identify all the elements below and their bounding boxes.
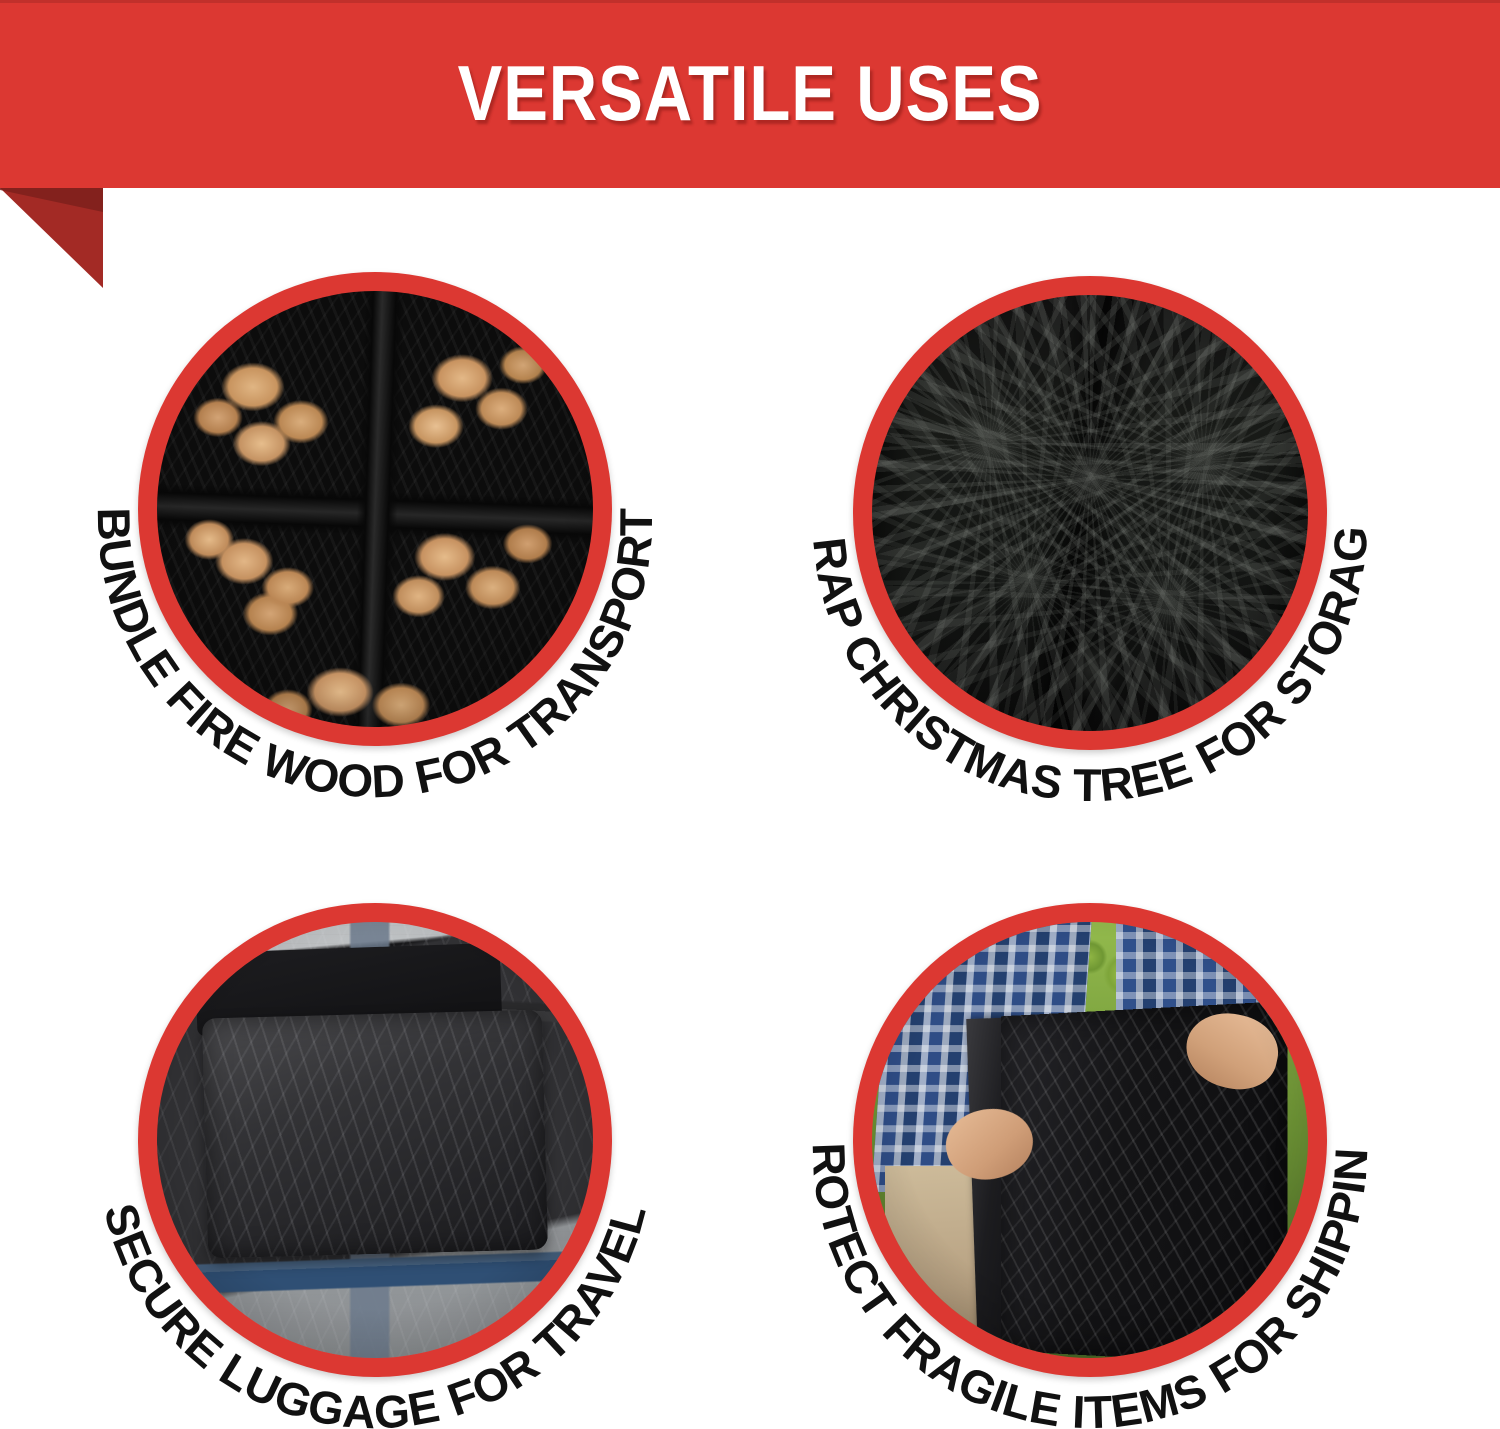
feature-3-caption-text: SECURE LUGGAGE FOR TRAVEL [94, 1198, 656, 1429]
page-title: VERSATILE USES [458, 54, 1043, 138]
feature-badge-bundle-firewood: BUNDLE FIRE WOOD FOR TRANSPORT [45, 190, 705, 850]
feature-1-caption-text: BUNDLE FIRE WOOD FOR TRANSPORT [88, 507, 662, 808]
feature-badge-wrap-christmas-tree: WRAP CHRISTMAS TREE FOR STORAGE [760, 194, 1420, 854]
feature-4-caption-text: PROTECT FRAGILE ITEMS FOR SHIPPING [760, 821, 1377, 1429]
feature-3-caption-arc: SECURE LUGGAGE FOR TRAVEL [45, 821, 705, 1429]
feature-2-caption-text: WRAP CHRISTMAS TREE FOR STORAGE [760, 194, 1378, 811]
feature-1-caption-arc: BUNDLE FIRE WOOD FOR TRANSPORT [45, 190, 705, 850]
feature-2-caption-arc: WRAP CHRISTMAS TREE FOR STORAGE [760, 194, 1420, 854]
feature-4-caption-arc: PROTECT FRAGILE ITEMS FOR SHIPPING [760, 821, 1420, 1429]
feature-badge-secure-luggage: SECURE LUGGAGE FOR TRAVEL [45, 821, 705, 1429]
header-banner: VERSATILE USES [0, 0, 1500, 188]
infographic-page: VERSATILE USES BUNDLE FIRE WOOD FOR TRAN… [0, 0, 1500, 1429]
feature-badge-protect-fragile-items: PROTECT FRAGILE ITEMS FOR SHIPPING [760, 821, 1420, 1429]
